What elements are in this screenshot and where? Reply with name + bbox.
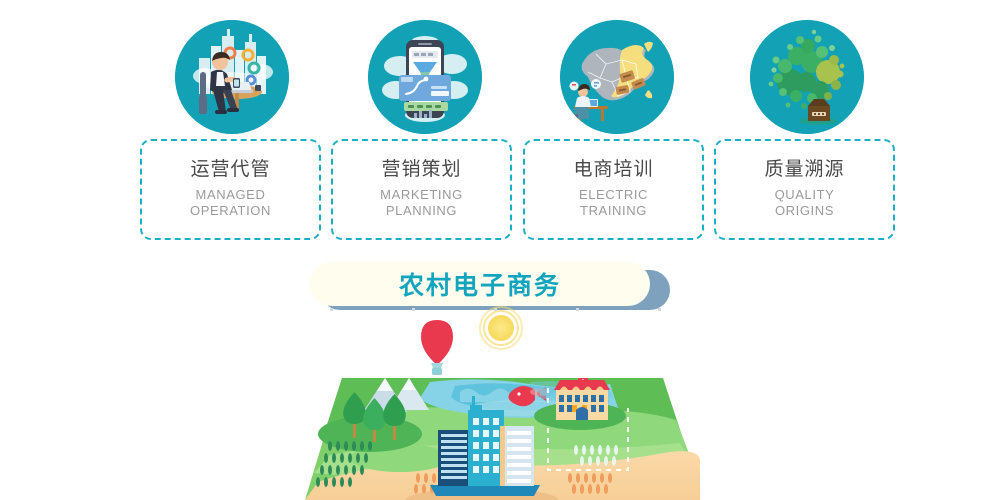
service-card-row: 运营代管 MANAGED OPERATION 营销策划 MARKETING PL…: [0, 139, 1000, 244]
icon-row: [0, 20, 1000, 136]
card-en-line2: TRAINING: [580, 203, 647, 218]
card-en-line1: MANAGED: [196, 187, 266, 202]
quality-origins-icon[interactable]: [750, 20, 864, 134]
marketing-planning-icon[interactable]: [368, 20, 482, 134]
card-title-en: ELECTRIC TRAINING: [579, 187, 648, 220]
service-card-managed-operation[interactable]: 运营代管 MANAGED OPERATION: [140, 139, 321, 240]
service-card-electric-training[interactable]: 电商培训 ELECTRIC TRAINING: [523, 139, 704, 240]
card-en-line2: OPERATION: [190, 203, 271, 218]
service-card-quality-origins[interactable]: 质量溯源 QUALITY ORIGINS: [714, 139, 895, 240]
electric-training-icon[interactable]: [560, 20, 674, 134]
service-card-marketing-planning[interactable]: 营销策划 MARKETING PLANNING: [331, 139, 512, 240]
managed-operation-icon[interactable]: [175, 20, 289, 134]
card-title-cn: 运营代管: [190, 159, 270, 180]
card-title-en: QUALITY ORIGINS: [775, 187, 835, 220]
hot-air-balloon: [421, 320, 453, 375]
rural-landscape-illustration: [0, 300, 1000, 500]
infographic-canvas: 运营代管 MANAGED OPERATION 营销策划 MARKETING PL…: [0, 0, 1000, 500]
land-platform: [305, 378, 700, 500]
card-title-cn: 质量溯源: [764, 159, 844, 180]
card-title-cn: 营销策划: [381, 159, 461, 180]
card-title-cn: 电商培训: [573, 159, 653, 180]
sun: [480, 307, 522, 349]
card-title-en: MANAGED OPERATION: [190, 187, 271, 220]
card-en-line1: ELECTRIC: [579, 187, 648, 202]
card-en-line1: QUALITY: [775, 187, 835, 202]
card-en-line1: MARKETING: [380, 187, 463, 202]
card-title-en: MARKETING PLANNING: [380, 187, 463, 220]
card-en-line2: PLANNING: [386, 203, 457, 218]
page-title: 农村电子商务: [399, 266, 561, 302]
card-en-line2: ORIGINS: [775, 203, 834, 218]
